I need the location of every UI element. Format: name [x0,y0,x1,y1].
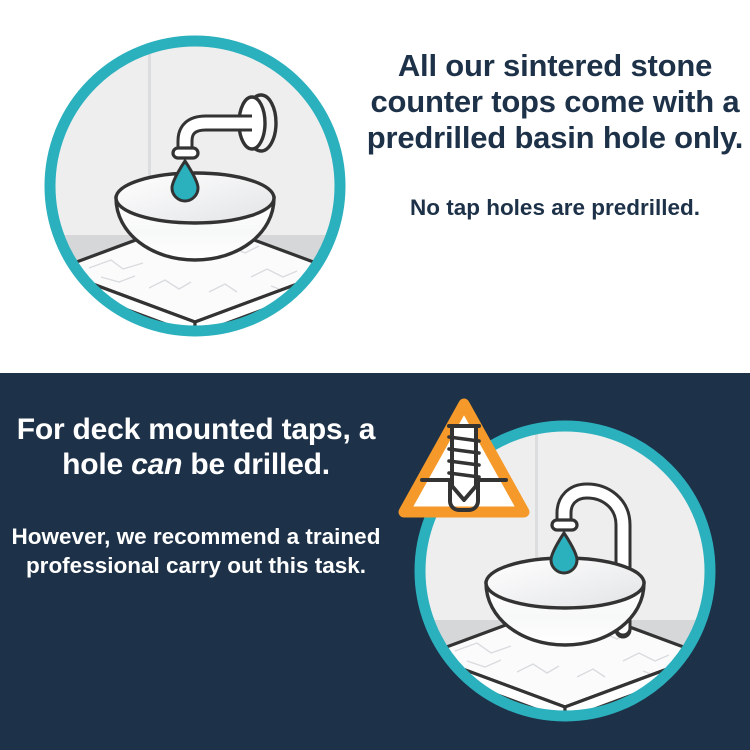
wall-mounted-tap-basin-illustration [39,30,351,342]
subline-bottom: However, we recommend a trained professi… [6,522,386,581]
drill-warning-triangle [396,396,532,522]
tap-outlet [173,148,198,158]
scene-top [39,30,351,342]
tap-outlet [552,520,577,530]
headline-top: All our sintered stone counter tops come… [360,48,750,156]
subline-top: No tap holes are predrilled. [360,194,750,223]
headline-bottom-part2: be drilled. [182,448,330,481]
tap-hole-infographic: All our sintered stone counter tops come… [0,0,750,750]
text-block-bottom: For deck mounted taps, a hole can be dri… [6,412,386,581]
headline-bottom: For deck mounted taps, a hole can be dri… [6,412,386,482]
text-block-top: All our sintered stone counter tops come… [360,48,750,222]
headline-bottom-emphasis: can [131,448,182,481]
